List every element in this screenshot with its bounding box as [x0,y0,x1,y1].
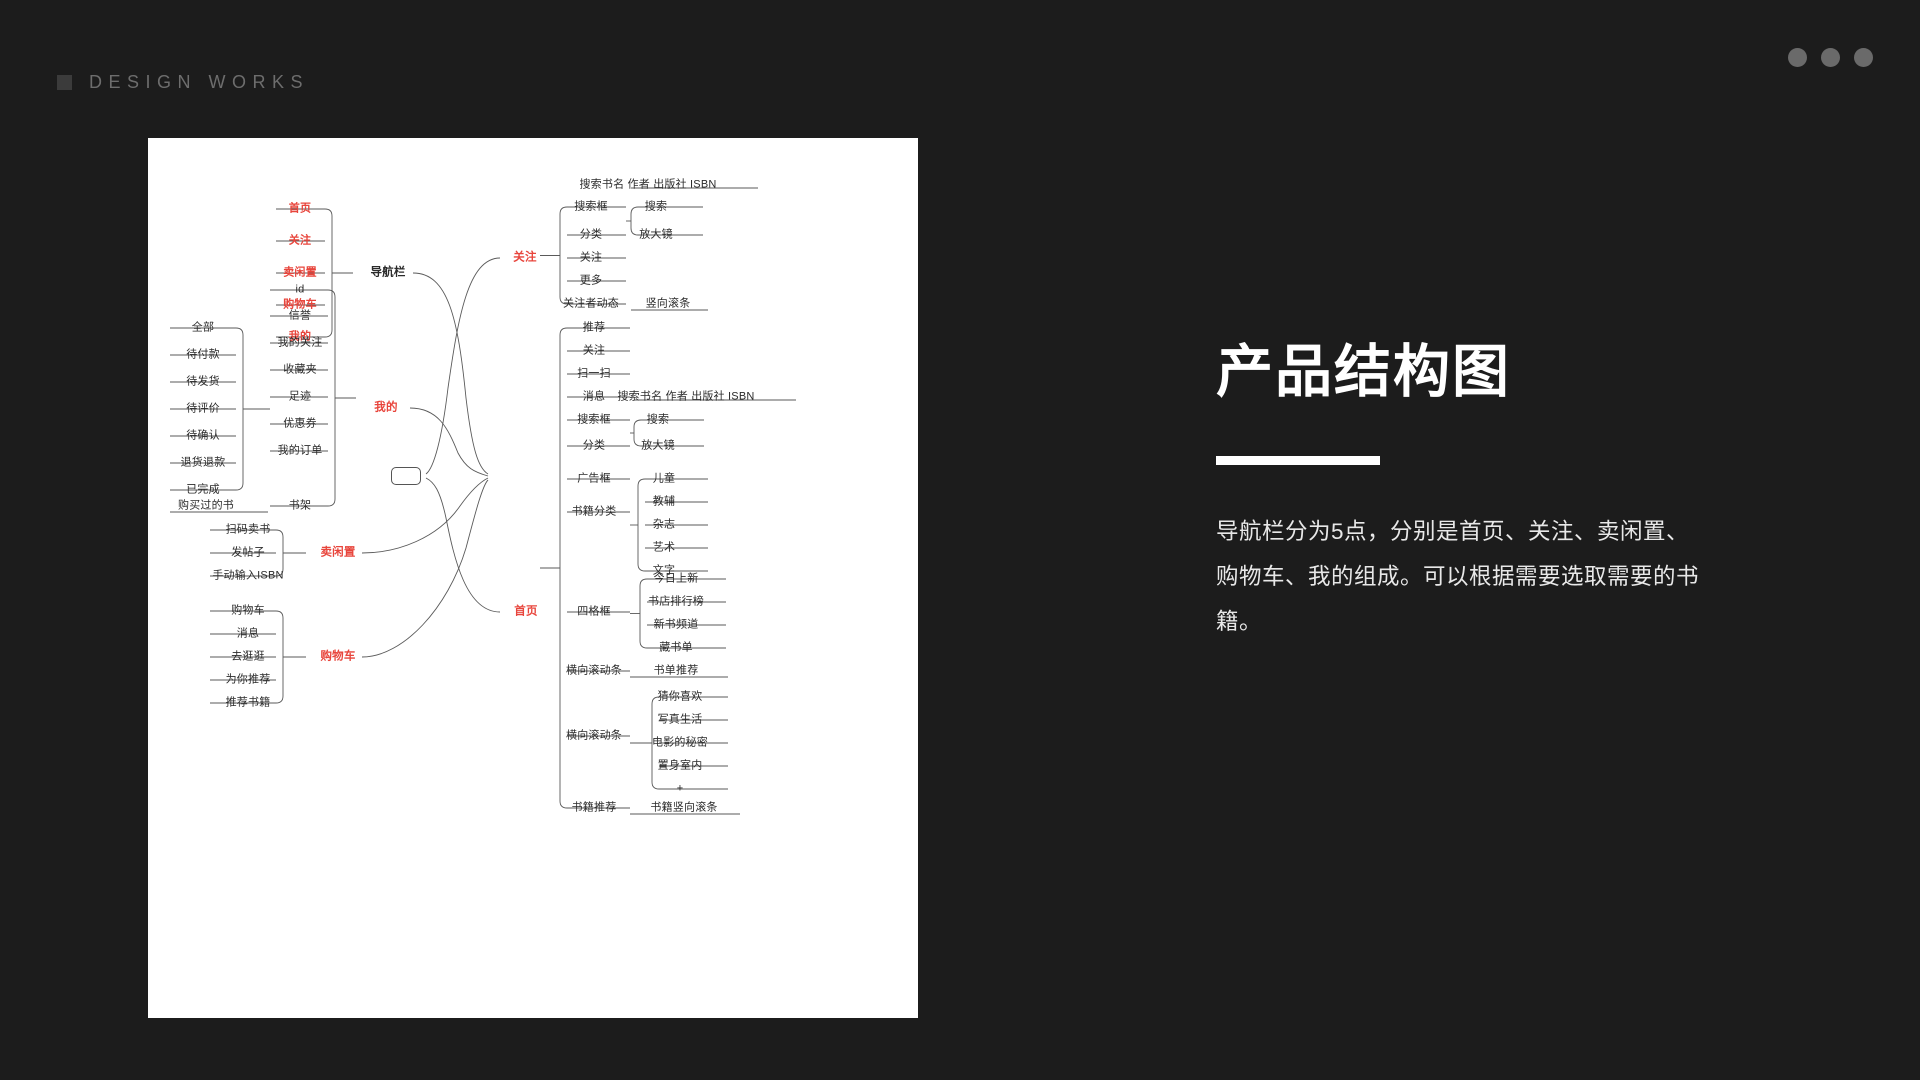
home-grid-sub-0: 今日上新 [654,574,699,585]
home-item-2: 扫一扫 [577,369,611,380]
order-item-3: 待评价 [186,404,220,415]
home-item-3: 消息 [583,392,605,403]
cart-item-1: 消息 [237,629,259,640]
nav-root: 导航栏 [370,267,405,279]
follow-search-hint: 搜索书名 作者 出版社 ISBN [579,180,716,191]
home-root: 首页 [514,606,537,618]
follow-item-0: 搜索框 [574,202,608,213]
home-item-10: 横向滚动条 [566,731,622,742]
home-search-sub-1: 放大镜 [641,441,675,452]
nav-item-0: 首页 [289,204,311,215]
cart-item-3: 为你推荐 [226,675,271,686]
mine-item-7: 书架 [289,501,311,512]
shelf-item-0: 购买过的书 [178,501,234,512]
connector [426,258,500,474]
nav-item-2: 卖闲置 [283,268,317,279]
window-dots[interactable] [1788,48,1873,67]
mine-item-4: 足迹 [289,392,311,403]
follow-item-3: 更多 [580,276,602,287]
home-book-sub: 书籍竖向滚条 [650,803,717,814]
sell-item-2: 手动输入ISBN [212,571,283,582]
brand-text: DESIGN WORKS [89,72,309,93]
sell-item-0: 扫码卖书 [226,525,271,536]
connector [640,579,726,648]
text-panel: 产品结构图 导航栏分为5点，分别是首页、关注、卖闲置、购物车、我的组成。可以根据… [1216,340,1776,644]
mine-item-3: 收藏夹 [283,365,317,376]
home-item-1: 关注 [583,346,605,357]
home-item-7: 书籍分类 [572,507,617,518]
dot-3-icon[interactable] [1854,48,1873,67]
home-item-6: 广告框 [577,474,611,485]
home-scroll2-sub-0: 猜你喜欢 [658,692,703,703]
home-scroll2-sub-4: + [677,784,684,795]
sell-item-1: 发帖子 [231,548,265,559]
connector [410,408,488,476]
slide-root: DESIGN WORKS 产品结构图 导航栏分为5点，分别是首页、关注、卖闲置、… [0,0,1920,1080]
home-item-8: 四格框 [577,607,611,618]
order-item-4: 待确认 [186,431,220,442]
home-item-9: 横向滚动条 [566,666,622,677]
order-item-6: 已完成 [186,485,220,496]
home-grid-sub-2: 新书频道 [654,620,699,631]
home-category-sub-1: 教辅 [653,497,675,508]
order-item-5: 退货退款 [181,458,226,469]
order-item-1: 待付款 [186,350,220,361]
home-item-5: 分类 [583,441,605,452]
cart-item-4: 推荐书籍 [226,698,271,709]
sell-root: 卖闲置 [320,547,355,559]
mindmap-root [391,467,421,485]
follow-search-sub-0: 搜索 [645,202,667,213]
order-item-2: 待发货 [186,377,220,388]
home-category-sub-0: 儿童 [653,474,675,485]
mindmap-canvas: 首页关注卖闲置购物车我的导航栏id信誉我的关注收藏夹足迹优惠券我的订单书架我的全… [148,138,918,1018]
home-search-hint: 搜索书名 作者 出版社 ISBN [617,392,754,403]
follow-dynamic-sub: 竖向滚条 [646,299,691,310]
title-rule [1216,456,1380,465]
mindmap: 首页关注卖闲置购物车我的导航栏id信誉我的关注收藏夹足迹优惠券我的订单书架我的全… [148,138,918,1018]
follow-root: 关注 [513,252,536,264]
mine-item-5: 优惠券 [283,419,317,430]
home-grid-sub-1: 书店排行榜 [648,597,704,608]
mine-root: 我的 [374,402,397,414]
connector [362,480,488,657]
home-category-sub-3: 艺术 [653,543,675,554]
connector [426,478,500,612]
cart-item-2: 去逛逛 [231,652,265,663]
follow-item-4: 关注者动态 [563,299,619,310]
order-item-0: 全部 [192,323,214,334]
connector [362,478,488,553]
home-item-4: 搜索框 [577,415,611,426]
home-grid-sub-3: 藏书单 [659,643,693,654]
panel-description: 导航栏分为5点，分别是首页、关注、卖闲置、购物车、我的组成。可以根据需要选取需要… [1216,509,1706,644]
home-category-sub-2: 杂志 [653,520,675,531]
home-search-sub-0: 搜索 [647,415,669,426]
square-mark-icon [57,75,72,90]
cart-root: 购物车 [320,651,355,663]
mine-item-6: 我的订单 [278,446,323,457]
home-item-0: 推荐 [583,323,605,334]
follow-item-2: 关注 [580,253,602,264]
nav-item-1: 关注 [289,236,311,247]
cart-item-0: 购物车 [231,606,265,617]
dot-2-icon[interactable] [1821,48,1840,67]
home-scroll1-sub: 书单推荐 [654,666,699,677]
mine-item-1: 信誉 [289,311,311,322]
brand: DESIGN WORKS [57,72,309,93]
home-scroll2-sub-3: 置身室内 [658,761,703,772]
home-item-11: 书籍推荐 [572,803,617,814]
dot-1-icon[interactable] [1788,48,1807,67]
follow-search-sub-1: 放大镜 [639,230,673,241]
home-scroll2-sub-1: 写真生活 [658,715,703,726]
mine-item-2: 我的关注 [278,338,323,349]
follow-item-1: 分类 [580,230,602,241]
mine-item-0: id [296,285,305,296]
page-title: 产品结构图 [1216,340,1776,406]
home-scroll2-sub-2: 电影的秘密 [652,738,708,749]
